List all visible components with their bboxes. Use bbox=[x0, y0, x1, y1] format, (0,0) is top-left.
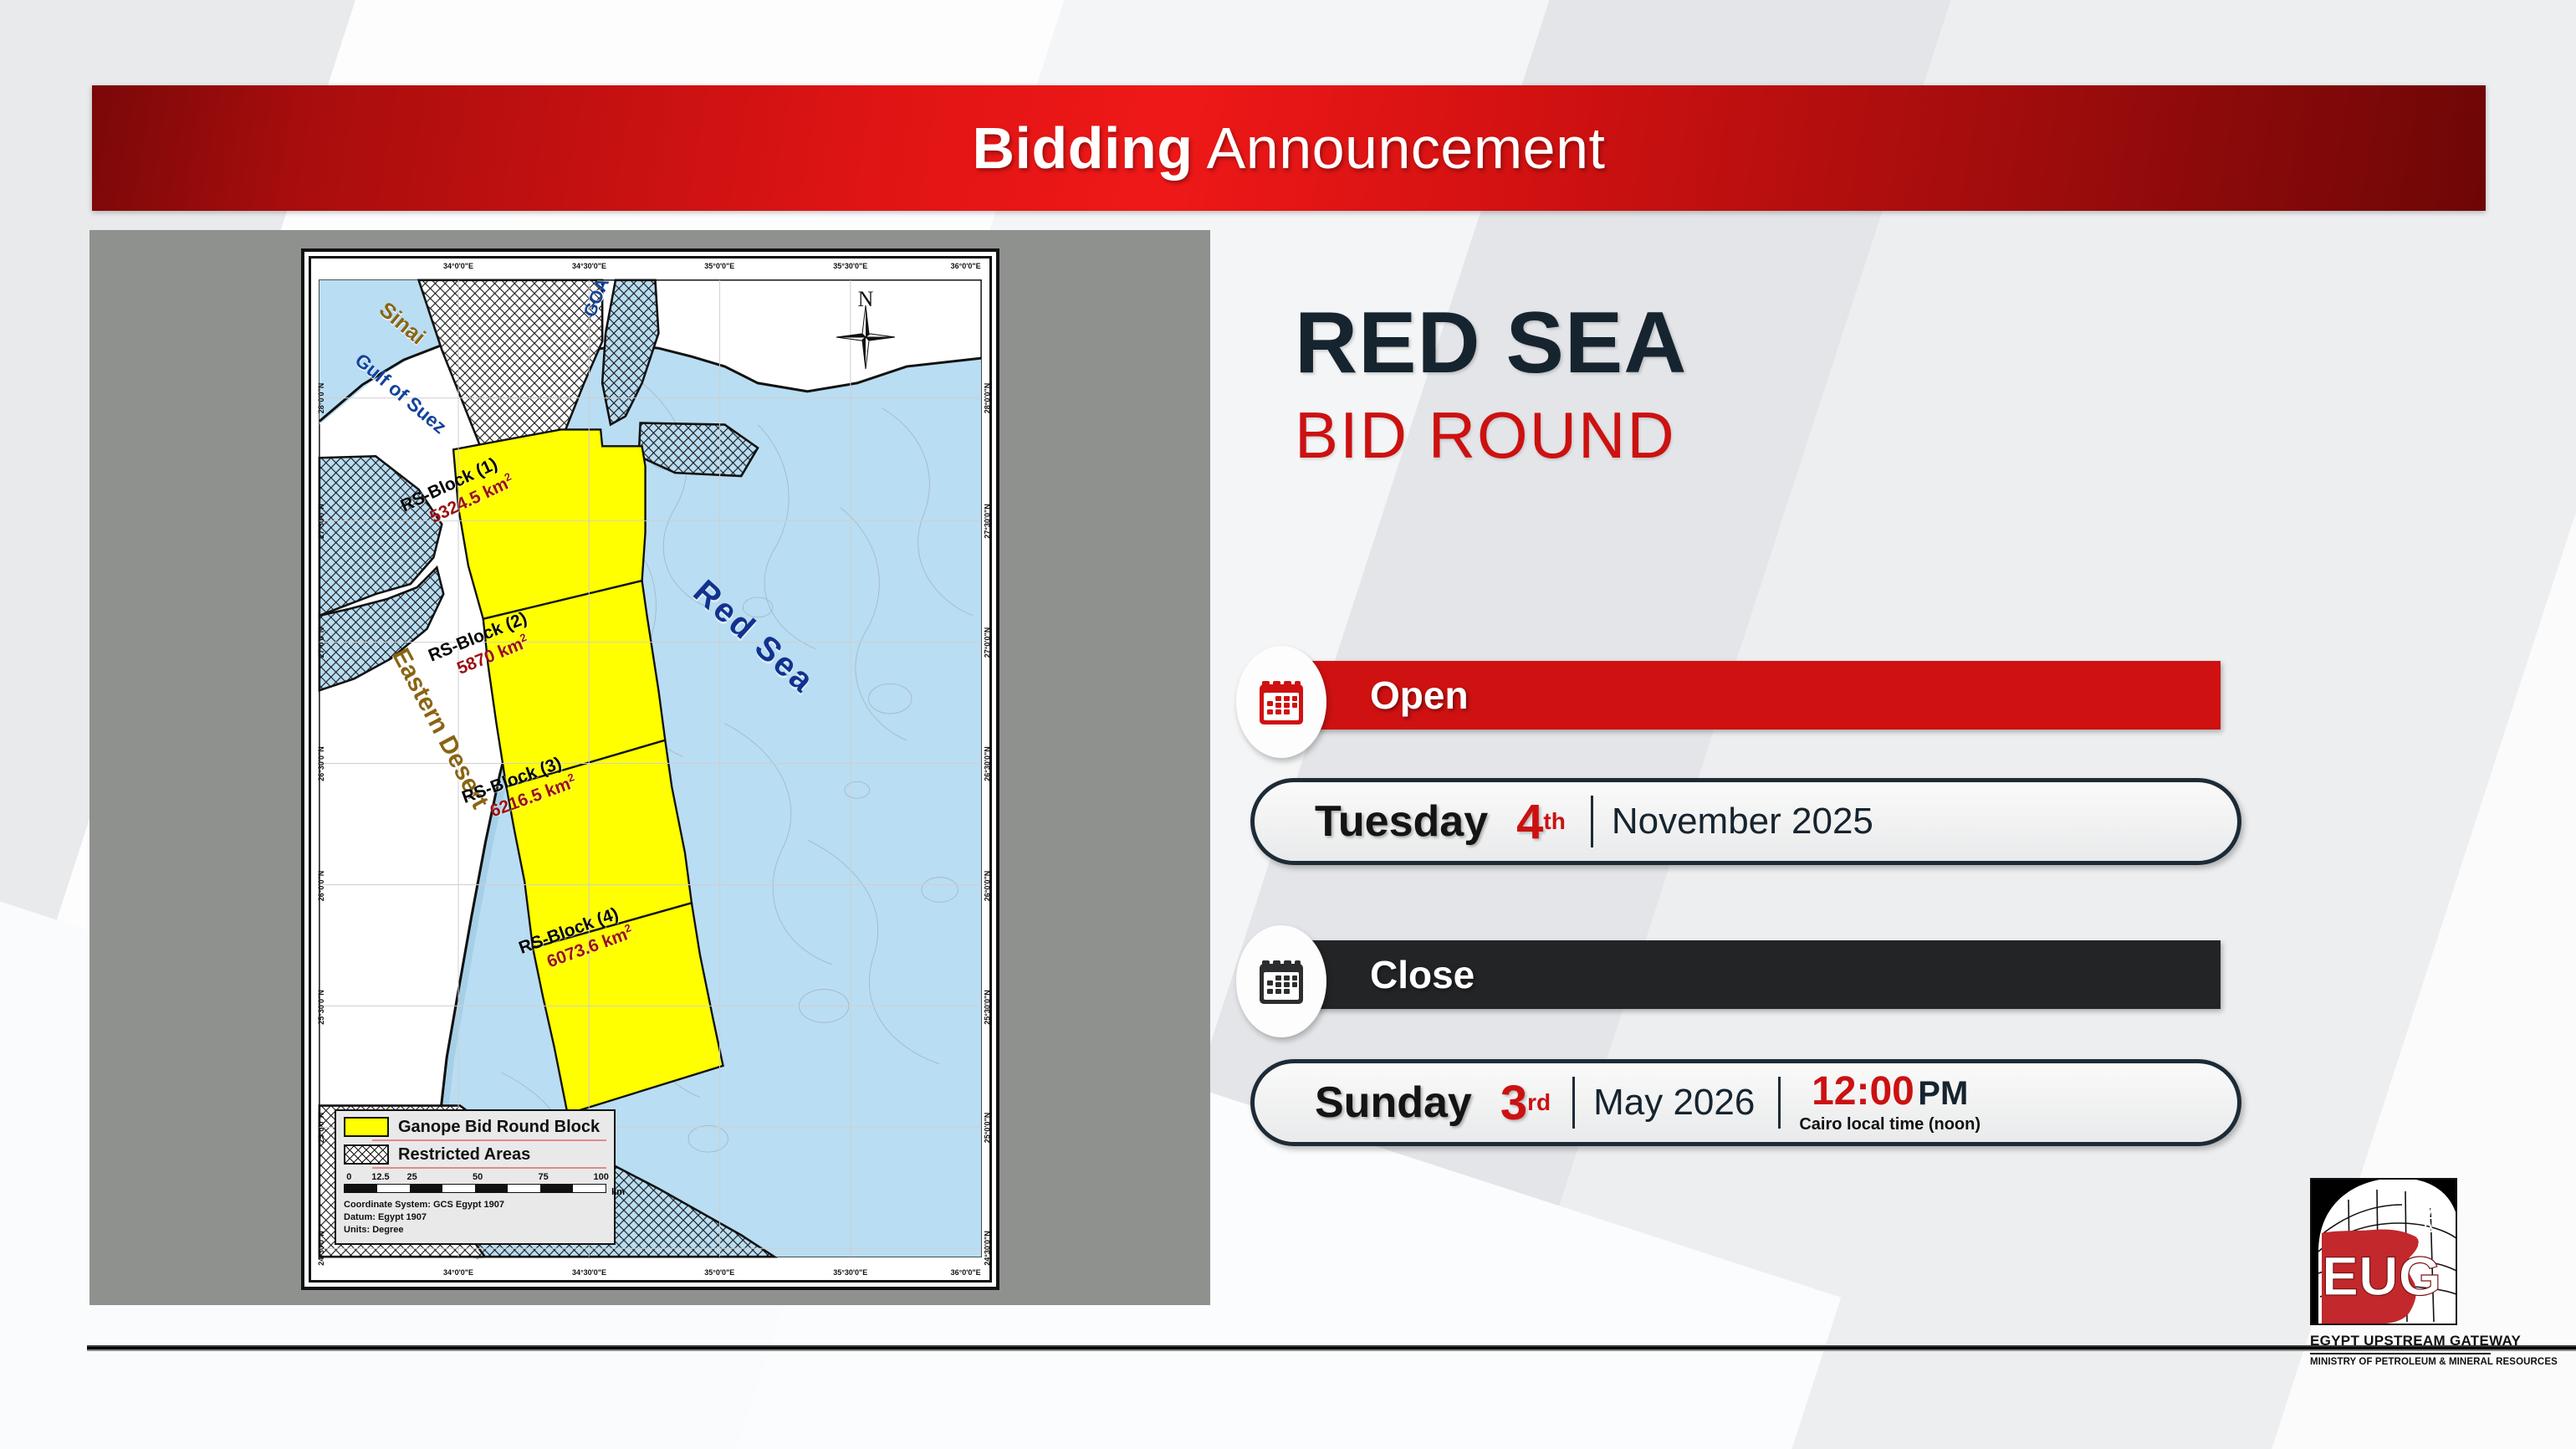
north-arrow-icon: N bbox=[836, 290, 895, 366]
close-time-row: 12:00 PM bbox=[1812, 1072, 1968, 1112]
map-tick-lat-r-7: 24°30'0"N bbox=[984, 1231, 992, 1266]
open-calendar-badge bbox=[1236, 646, 1326, 758]
header-banner: Bidding Announcement bbox=[92, 85, 2486, 211]
map-tick-lat-r-3: 26°30'0"N bbox=[984, 747, 992, 782]
map-tick-lon-4: 36°0'0"E bbox=[951, 262, 981, 270]
map-tick-lat-1: 27°30'0"N bbox=[317, 504, 325, 539]
close-time-note: Cairo local time (noon) bbox=[1799, 1115, 1981, 1134]
legend-divider-2 bbox=[372, 1167, 606, 1169]
close-divider-2 bbox=[1778, 1077, 1781, 1129]
eug-logo-name: EGYPT UPSTREAM GATEWAY bbox=[2310, 1333, 2504, 1349]
open-day-number: 4 bbox=[1516, 794, 1543, 850]
eug-logo-mark: EUG bbox=[2310, 1178, 2457, 1325]
map-frame: 34°0'0"E 34°30'0"E 35°0'0"E 35°30'0"E 36… bbox=[301, 248, 999, 1290]
legend-row-restricted: Restricted Areas bbox=[344, 1144, 606, 1165]
banner-title: Bidding Announcement bbox=[973, 115, 1606, 182]
close-calendar-badge bbox=[1236, 925, 1326, 1037]
map-scale-bar: 0 12.5 25 50 75 100 km bbox=[344, 1172, 606, 1196]
open-status-bar: Open bbox=[1271, 661, 2221, 730]
map-tick-lon-bot-1: 34°30'0"E bbox=[572, 1268, 606, 1277]
map-tick-lon-3: 35°30'0"E bbox=[833, 262, 867, 270]
calendar-icon bbox=[1259, 678, 1304, 726]
legend-metadata: Coordinate System: GCS Egypt 1907 Datum:… bbox=[344, 1199, 606, 1237]
legend-label-block: Ganope Bid Round Block bbox=[398, 1118, 600, 1137]
banner-title-light: Announcement bbox=[1207, 115, 1606, 181]
map-tick-lat-r-6: 25°0'0"N bbox=[984, 1113, 992, 1144]
close-divider-1 bbox=[1572, 1077, 1575, 1129]
open-day-ordinal: th bbox=[1543, 808, 1565, 835]
legend-units: Units: Degree bbox=[344, 1224, 606, 1237]
title-main: RED SEA bbox=[1295, 300, 1687, 387]
calendar-icon bbox=[1259, 957, 1304, 1006]
legend-swatch-restricted bbox=[344, 1144, 389, 1165]
map-tick-lat-r-2: 27°0'0"N bbox=[984, 627, 992, 658]
close-time-group: 12:00 PM Cairo local time (noon) bbox=[1799, 1072, 1981, 1134]
legend-label-restricted: Restricted Areas bbox=[398, 1145, 530, 1165]
eug-logo: EUG EGYPT UPSTREAM GATEWAY MINISTRY OF P… bbox=[2310, 1178, 2504, 1367]
close-status-bar: Close bbox=[1271, 940, 2221, 1009]
page-title: RED SEA BID ROUND bbox=[1295, 300, 1687, 474]
legend-row-block: Ganope Bid Round Block bbox=[344, 1117, 606, 1137]
eug-logo-rule bbox=[2310, 1353, 2491, 1354]
open-weekday: Tuesday bbox=[1315, 796, 1488, 847]
map-tick-lon-bot-2: 35°0'0"E bbox=[704, 1268, 734, 1277]
map-tick-lat-3: 26°30'0"N bbox=[317, 747, 325, 782]
map-tick-lon-bot-3: 35°30'0"E bbox=[833, 1268, 867, 1277]
eug-mark-text: EUG bbox=[2322, 1245, 2441, 1307]
map-legend: Ganope Bid Round Block Restricted Areas … bbox=[335, 1109, 616, 1245]
map-canvas: 34°0'0"E 34°30'0"E 35°0'0"E 35°30'0"E 36… bbox=[309, 256, 992, 1283]
footer-divider bbox=[87, 1345, 2576, 1351]
scale-tick-0: 0 bbox=[346, 1172, 351, 1182]
scale-tick-4: 75 bbox=[539, 1172, 549, 1182]
map-tick-lat-0: 28°0'0"N bbox=[317, 383, 325, 414]
map-tick-lat-4: 26°0'0"N bbox=[317, 870, 325, 901]
map-tick-lat-2: 27°0'0"N bbox=[317, 627, 325, 658]
map-panel: 34°0'0"E 34°30'0"E 35°0'0"E 35°30'0"E 36… bbox=[89, 230, 1210, 1305]
open-date-pill: Tuesday 4 th November 2025 bbox=[1250, 778, 2241, 865]
scale-tick-labels: 0 12.5 25 50 75 100 bbox=[344, 1172, 606, 1182]
scale-bar-graphic bbox=[344, 1184, 606, 1193]
scale-tick-3: 50 bbox=[473, 1172, 483, 1182]
eug-globe-icon: EUG bbox=[2312, 1180, 2456, 1324]
map-tick-lon-0: 34°0'0"E bbox=[443, 262, 473, 270]
map-tick-lon-2: 35°0'0"E bbox=[704, 262, 734, 270]
map-tick-lat-r-4: 26°0'0"N bbox=[984, 870, 992, 901]
map-tick-lat-7: 24°30'0"N bbox=[317, 1231, 325, 1266]
title-sub: BID ROUND bbox=[1295, 398, 1687, 474]
close-weekday: Sunday bbox=[1315, 1078, 1472, 1128]
close-label: Close bbox=[1370, 952, 1475, 997]
map-tick-lon-1: 34°30'0"E bbox=[572, 262, 606, 270]
close-month-year: May 2026 bbox=[1593, 1082, 1755, 1124]
map-tick-lat-5: 25°30'0"N bbox=[317, 990, 325, 1025]
scale-tick-2: 25 bbox=[407, 1172, 417, 1182]
scale-tick-1: 12.5 bbox=[371, 1172, 389, 1182]
banner-title-strong: Bidding bbox=[973, 115, 1193, 181]
open-divider bbox=[1591, 796, 1593, 847]
map-tick-lat-r-1: 27°30'0"N bbox=[984, 504, 992, 539]
map-tick-lat-r-5: 25°30'0"N bbox=[984, 990, 992, 1025]
map-tick-lon-bot-0: 34°0'0"E bbox=[443, 1268, 473, 1277]
map-tick-lat-r-0: 28°0'0"N bbox=[984, 383, 992, 414]
event-close: Close bbox=[1271, 940, 2221, 1009]
legend-swatch-block bbox=[344, 1117, 389, 1137]
open-month-year: November 2025 bbox=[1612, 801, 1873, 842]
map-tick-lon-bot-4: 36°0'0"E bbox=[951, 1268, 981, 1277]
close-day-ordinal: rd bbox=[1527, 1089, 1551, 1116]
eug-logo-ministry: MINISTRY OF PETROLEUM & MINERAL RESOURCE… bbox=[2310, 1357, 2504, 1367]
scale-unit-label: km bbox=[611, 1187, 625, 1197]
legend-divider-1 bbox=[372, 1139, 606, 1141]
close-date-pill: Sunday 3 rd May 2026 12:00 PM Cairo loca… bbox=[1250, 1059, 2241, 1146]
close-time: 12:00 bbox=[1812, 1069, 1914, 1114]
open-label: Open bbox=[1370, 673, 1469, 718]
scale-tick-5: 100 bbox=[594, 1172, 609, 1182]
close-time-ampm: PM bbox=[1918, 1075, 1968, 1112]
close-day-number: 3 bbox=[1500, 1075, 1527, 1131]
event-open: Open bbox=[1271, 661, 2221, 730]
legend-coordinate-system: Coordinate System: GCS Egypt 1907 bbox=[344, 1199, 606, 1211]
legend-datum: Datum: Egypt 1907 bbox=[344, 1211, 606, 1224]
map-tick-lat-6: 25°0'0"N bbox=[317, 1113, 325, 1144]
